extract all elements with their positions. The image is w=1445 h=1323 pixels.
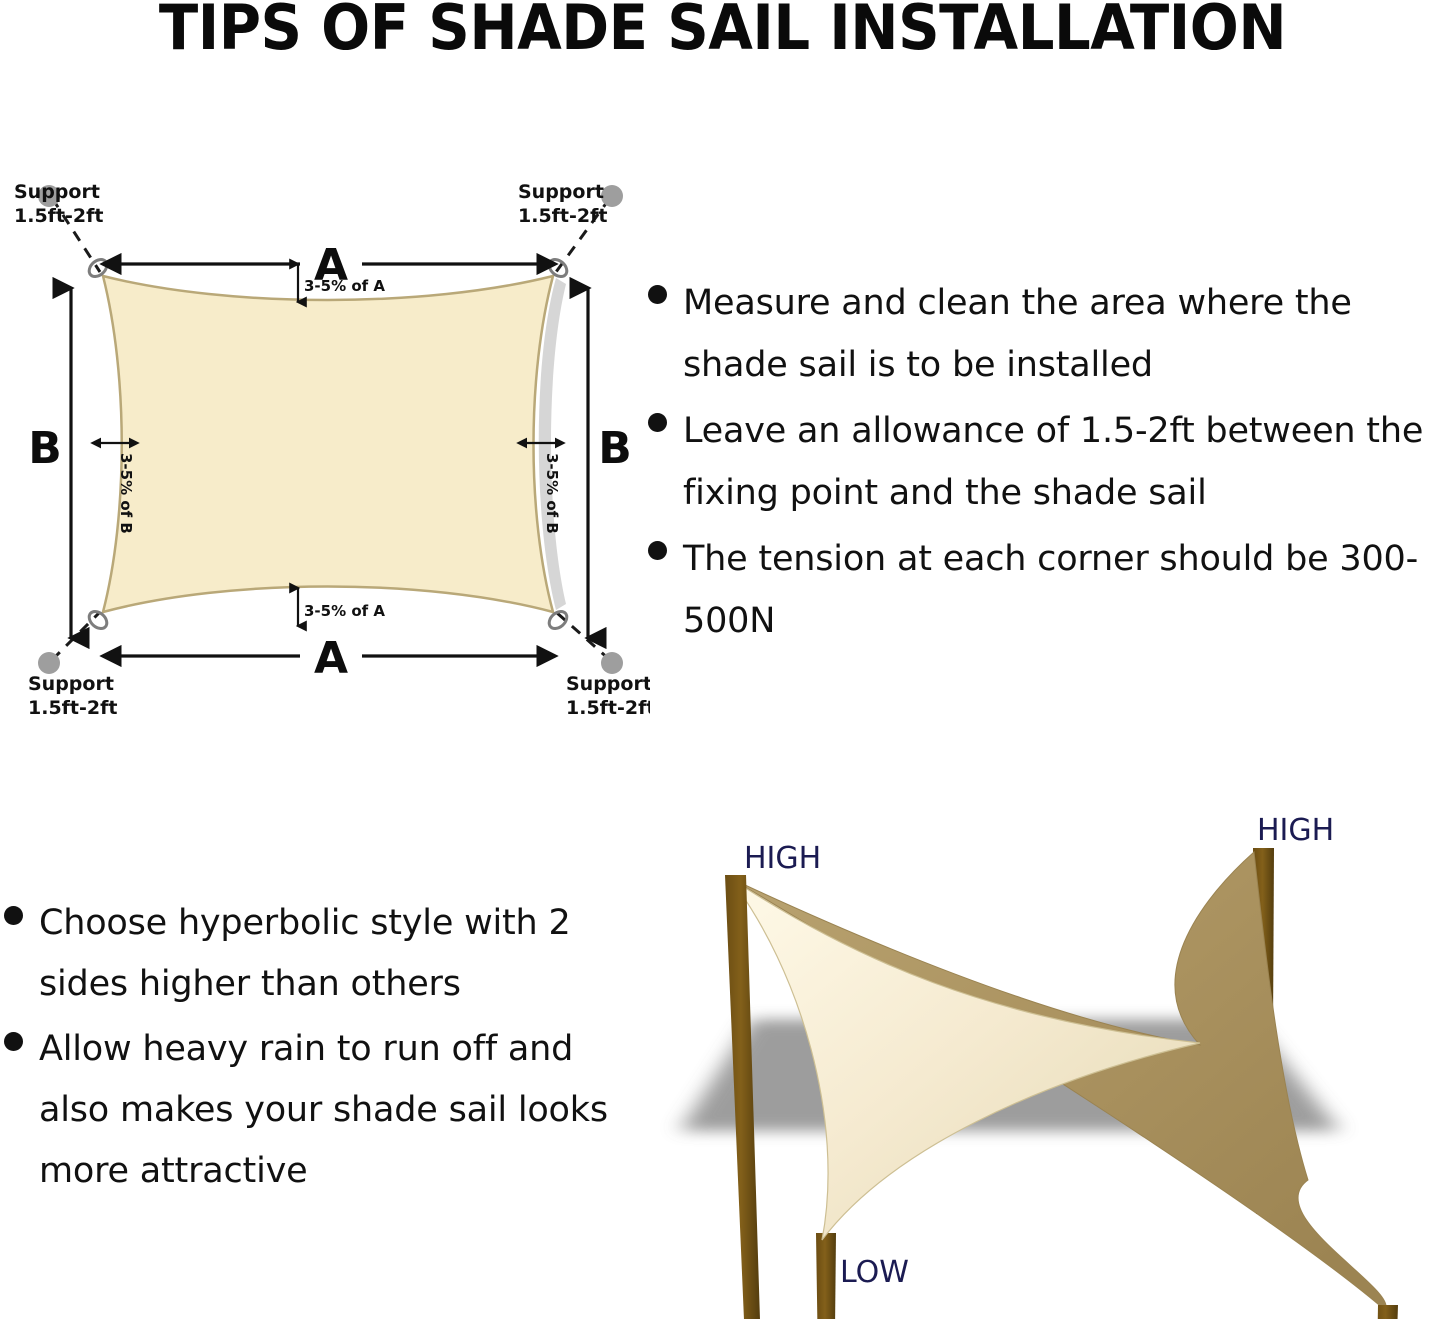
- bullet-dot-icon: [648, 413, 667, 432]
- svg-text:1.5ft-2ft: 1.5ft-2ft: [518, 205, 607, 227]
- tip-text: The tension at each corner should be 300…: [683, 528, 1445, 652]
- list-item: The tension at each corner should be 300…: [648, 528, 1445, 652]
- dimension-label-B-right: B: [598, 423, 632, 474]
- list-item: Allow heavy rain to run off and also mak…: [4, 1019, 624, 1202]
- page-title: TIPS OF SHADE SAIL INSTALLATION: [51, 0, 1395, 64]
- support-label-top-left: Support 1.5ft-2ft: [14, 181, 103, 227]
- rectangular-sail-diagram: A A B B 3-5% of A 3-5% of A 3-5% of B 3-…: [0, 160, 650, 730]
- list-item: Leave an allowance of 1.5-2ft between th…: [648, 400, 1445, 524]
- label-low-left: LOW: [840, 1255, 909, 1290]
- hyperbolic-sail-diagram: HIGH HIGH LOW LOW: [640, 790, 1445, 1319]
- support-label-bottom-left: Support 1.5ft-2ft: [28, 673, 117, 719]
- tip-text: Leave an allowance of 1.5-2ft between th…: [683, 400, 1445, 524]
- svg-text:1.5ft-2ft: 1.5ft-2ft: [14, 205, 103, 227]
- svg-text:Support: Support: [14, 181, 100, 203]
- sag-label-right: 3-5% of B: [543, 453, 561, 534]
- svg-text:Support: Support: [566, 673, 650, 695]
- sag-label-top: 3-5% of A: [304, 277, 385, 295]
- bullet-dot-icon: [4, 906, 23, 925]
- sag-label-bottom: 3-5% of A: [304, 602, 385, 620]
- svg-text:1.5ft-2ft: 1.5ft-2ft: [566, 697, 650, 719]
- dimension-label-A-bottom: A: [314, 633, 348, 684]
- list-item: Choose hyperbolic style with 2 sides hig…: [4, 893, 624, 1015]
- support-label-top-right: Support 1.5ft-2ft: [518, 181, 607, 227]
- tip-text: Allow heavy rain to run off and also mak…: [39, 1019, 624, 1202]
- post-low-right: [1375, 1305, 1398, 1319]
- installation-tips-list-right: Measure and clean the area where the sha…: [648, 272, 1445, 656]
- shade-sail-fabric: [103, 276, 553, 612]
- svg-text:Support: Support: [28, 673, 114, 695]
- sag-label-left: 3-5% of B: [117, 453, 135, 534]
- bullet-dot-icon: [4, 1032, 23, 1051]
- label-high-right: HIGH: [1257, 813, 1334, 848]
- svg-text:1.5ft-2ft: 1.5ft-2ft: [28, 697, 117, 719]
- support-label-bottom-right: Support 1.5ft-2ft: [566, 673, 650, 719]
- tip-text: Choose hyperbolic style with 2 sides hig…: [39, 893, 624, 1015]
- installation-tips-list-left: Choose hyperbolic style with 2 sides hig…: [4, 893, 624, 1206]
- list-item: Measure and clean the area where the sha…: [648, 272, 1445, 396]
- svg-text:Support: Support: [518, 181, 604, 203]
- bullet-dot-icon: [648, 285, 667, 304]
- bullet-dot-icon: [648, 541, 667, 560]
- label-high-left: HIGH: [744, 841, 821, 876]
- dimension-label-B-left: B: [28, 423, 62, 474]
- tip-text: Measure and clean the area where the sha…: [683, 272, 1445, 396]
- post-low-left: [816, 1233, 836, 1319]
